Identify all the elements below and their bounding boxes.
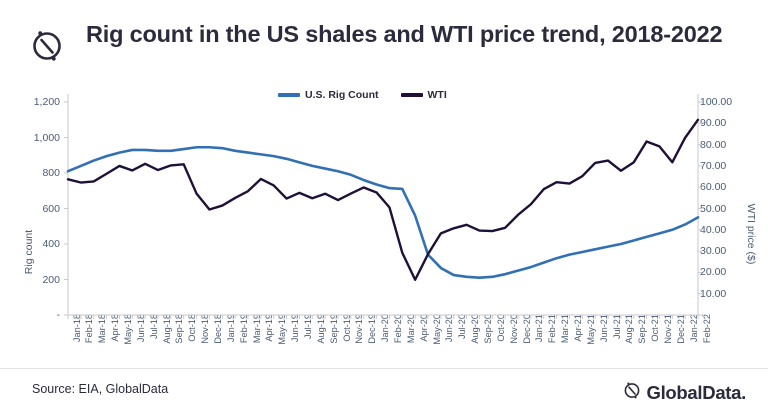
globaldata-mark-icon [621,378,643,407]
source-note: Source: EIA, GlobalData [32,382,168,396]
series-line-rig-count [68,147,698,277]
chart-container: U.S. Rig Count WTI Rig count WTI price (… [0,86,768,368]
page-footer: Source: EIA, GlobalData GlobalData. [0,368,768,411]
footer-logo: GlobalData. [621,378,747,407]
series-line-wti [68,120,698,280]
footer-logo-text: GlobalData. [647,382,747,404]
page-title: Rig count in the US shales and WTI price… [86,20,746,49]
globaldata-mark-icon [26,22,68,68]
chart-plot [0,86,768,368]
page-header: Rig count in the US shales and WTI price… [0,0,768,86]
